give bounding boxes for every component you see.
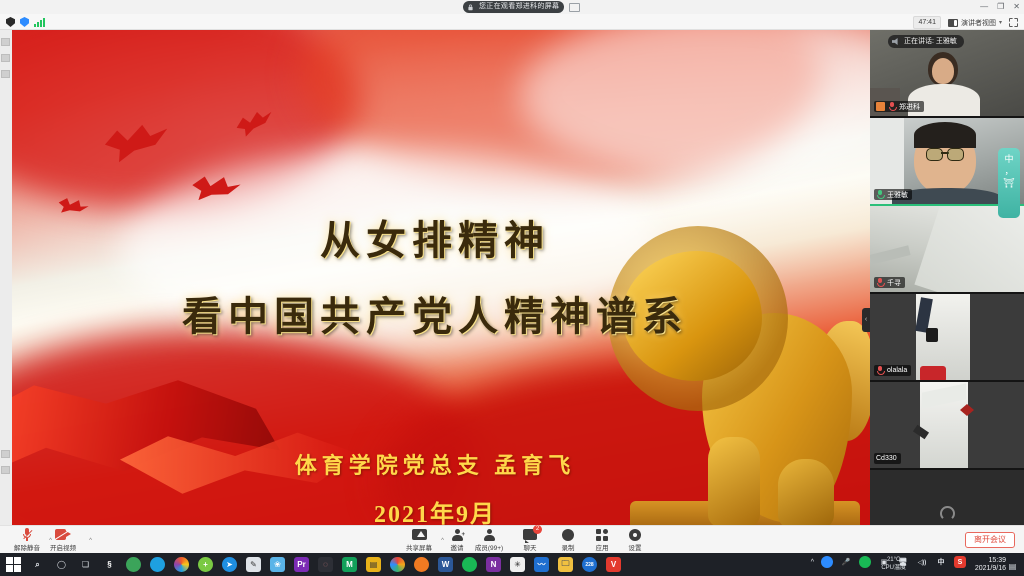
slide-thumbnail[interactable] bbox=[1, 450, 10, 458]
share-screen-indicator-icon bbox=[569, 3, 580, 12]
settings-button-label: 设置 bbox=[608, 542, 662, 552]
tray-zoom-icon[interactable] bbox=[821, 556, 833, 568]
chrome-icon[interactable] bbox=[174, 557, 189, 572]
participant-name: Cd330 bbox=[876, 455, 897, 462]
app-icon-pen[interactable]: ✎ bbox=[246, 557, 261, 572]
participant-name-badge: 郑进科 bbox=[874, 101, 924, 112]
tray-microphone-icon[interactable]: 🎤 bbox=[840, 556, 852, 568]
dove-icon bbox=[234, 107, 277, 140]
app-icon-mask[interactable]: ❀ bbox=[270, 557, 285, 572]
windows-taskbar: ⌕ ◯ ❏ § + ➤ ✎ ❀ Pr ◌ M ▤ W N ✳ 〰 🗀 228 V bbox=[0, 553, 1024, 576]
participant-name: 王雅敏 bbox=[887, 190, 908, 200]
title-bar: 您正在观看郑进科的屏幕 — ❐ ✕ bbox=[0, 0, 1024, 14]
slide-title: 从女排精神 看中国共产党人精神谱系 bbox=[0, 208, 870, 342]
onenote-icon[interactable]: N bbox=[486, 557, 501, 572]
app-icon-cursor[interactable]: ➤ bbox=[222, 557, 237, 572]
tray-expand-icon[interactable]: ^ bbox=[811, 559, 814, 566]
wechat-icon[interactable] bbox=[462, 557, 477, 572]
pin-icon[interactable] bbox=[876, 102, 885, 111]
cortana-icon[interactable]: ◯ bbox=[54, 557, 69, 572]
tray-wechat-icon[interactable] bbox=[859, 556, 871, 568]
slide-cloud bbox=[300, 30, 820, 190]
presentation-slide: 从女排精神 看中国共产党人精神谱系 体育学院党总支 孟育飞 2021年9月 bbox=[0, 30, 870, 525]
speaker-icon bbox=[892, 38, 900, 45]
settings-button[interactable]: 设置 bbox=[608, 528, 662, 552]
participant-name-badge: 千寻 bbox=[874, 277, 905, 288]
status-bar: 47:41 演讲者视图 ▾ bbox=[0, 14, 1024, 30]
start-video-button-label: 开启视频 bbox=[36, 542, 90, 552]
participant-tile[interactable]: olalala bbox=[870, 294, 1024, 382]
tray-volume-icon[interactable]: ◁)) bbox=[916, 556, 928, 568]
search-icon[interactable]: ⌕ bbox=[30, 557, 45, 572]
network-signal-icon[interactable] bbox=[34, 18, 45, 27]
shared-screen-stage[interactable]: 从女排精神 看中国共产党人精神谱系 体育学院党总支 孟育飞 2021年9月 ‹ bbox=[0, 30, 870, 525]
dove-icon bbox=[103, 121, 171, 166]
app-icon-green-circle[interactable] bbox=[126, 557, 141, 572]
meeting-timer: 47:41 bbox=[913, 16, 941, 29]
microphone-muted-icon bbox=[876, 366, 884, 375]
participant-name: olalala bbox=[887, 367, 907, 374]
taskbar-clock[interactable]: 15:39 2021/9/16 bbox=[975, 557, 1006, 573]
loading-spinner-wrapper bbox=[870, 506, 1024, 526]
viewing-notice-text: 您正在观看郑进科的屏幕 bbox=[479, 3, 559, 10]
speaking-label: 正在讲话: 王雅敏 bbox=[904, 38, 957, 45]
restore-button[interactable]: ❐ bbox=[997, 0, 1004, 14]
security-icon[interactable] bbox=[20, 17, 29, 27]
taskbar-time: 15:39 bbox=[975, 557, 1006, 565]
chevron-down-icon: ▾ bbox=[999, 19, 1002, 26]
zoom-meeting-window: 您正在观看郑进科的屏幕 — ❐ ✕ 47:41 演讲者视图 ▾ bbox=[0, 0, 1024, 576]
file-explorer-icon[interactable]: 🗀 bbox=[558, 557, 573, 572]
dove-icon bbox=[191, 173, 242, 206]
app-icon-colorwheel[interactable] bbox=[390, 557, 405, 572]
gear-icon bbox=[608, 528, 662, 541]
microphone-icon bbox=[876, 190, 884, 199]
minimize-button[interactable]: — bbox=[980, 0, 988, 14]
tray-screenshot-icon[interactable]: ▣ bbox=[878, 556, 890, 568]
ime-punctuation-label: ， bbox=[998, 165, 1020, 177]
participant-name-badge: olalala bbox=[874, 365, 911, 376]
notification-center-icon[interactable]: ▤ bbox=[1005, 559, 1020, 574]
participant-name: 郑进科 bbox=[899, 102, 920, 112]
shield-icon[interactable] bbox=[6, 17, 15, 27]
camera-off-icon: ^ bbox=[36, 528, 90, 541]
app-icon-228[interactable]: 228 bbox=[582, 557, 597, 572]
microphone-muted-icon bbox=[876, 278, 884, 287]
slide-presenter: 体育学院党总支 孟育飞 bbox=[0, 448, 870, 480]
participant-video-rail: 正在讲话: 王雅敏 郑进科 王雅敏 bbox=[870, 30, 1024, 525]
slide-thumbnail[interactable] bbox=[1, 38, 10, 46]
participant-name: 千寻 bbox=[887, 278, 901, 288]
lock-icon bbox=[467, 4, 474, 11]
slide-thumbnail[interactable] bbox=[1, 54, 10, 62]
powerpoint-slide-pane-edge bbox=[0, 30, 12, 525]
taskbar-icons: ⌕ ◯ ❏ § + ➤ ✎ ❀ Pr ◌ M ▤ W N ✳ 〰 🗀 228 V bbox=[6, 557, 621, 572]
view-mode-label: 演讲者视图 bbox=[961, 18, 996, 28]
start-button-icon[interactable] bbox=[6, 557, 21, 572]
premiere-icon[interactable]: Pr bbox=[294, 557, 309, 572]
fullscreen-icon[interactable] bbox=[1009, 18, 1018, 27]
task-view-icon[interactable]: ❏ bbox=[78, 557, 93, 572]
ime-extra-icon: ⛩ bbox=[998, 177, 1020, 189]
status-bar-right: 47:41 演讲者视图 ▾ bbox=[913, 16, 1018, 29]
participant-name-badge: Cd330 bbox=[874, 453, 901, 464]
system-tray: ^ 🎤 ▣ 🖥 ◁)) 中 S bbox=[811, 556, 966, 568]
slide-cloud bbox=[520, 30, 870, 180]
app-icon-blue-wave[interactable]: 〰 bbox=[534, 557, 549, 572]
app-icon-search-orange[interactable]: ◌ bbox=[318, 557, 333, 572]
chevron-up-icon[interactable]: ^ bbox=[89, 538, 92, 544]
app-icon-orange[interactable] bbox=[414, 557, 429, 572]
app-icon-plus[interactable]: + bbox=[198, 557, 213, 572]
leave-meeting-button[interactable]: 离开会议 bbox=[965, 532, 1015, 548]
slide-date: 2021年9月 bbox=[0, 494, 870, 525]
tray-app-icon[interactable]: S bbox=[954, 556, 966, 568]
meeting-toolbar: ^ 解除静音 ^ 开启视频 ^ 共享屏幕 + 邀请 bbox=[0, 525, 1024, 553]
tray-ime-icon[interactable]: 中 bbox=[935, 556, 947, 568]
ime-mode-label: 中 bbox=[998, 153, 1020, 165]
slide-title-line2: 看中国共产党人精神谱系 bbox=[0, 284, 870, 342]
glasses-icon bbox=[926, 148, 964, 159]
microphone-muted-icon bbox=[888, 102, 896, 111]
app-icon-s[interactable]: § bbox=[102, 557, 117, 572]
speaking-indicator: 正在讲话: 王雅敏 bbox=[888, 35, 964, 48]
slide-cloud bbox=[0, 30, 360, 210]
window-controls: — ❐ ✕ bbox=[980, 0, 1020, 14]
participant-tile[interactable]: 千寻 bbox=[870, 206, 1024, 294]
slide-subtitle: 体育学院党总支 孟育飞 2021年9月 bbox=[0, 448, 870, 525]
status-bar-left bbox=[6, 17, 45, 27]
tray-network-icon[interactable]: 🖥 bbox=[897, 556, 909, 568]
close-button[interactable]: ✕ bbox=[1013, 0, 1020, 14]
loading-spinner-icon bbox=[940, 506, 955, 521]
slide-title-line1: 从女排精神 bbox=[0, 208, 870, 266]
slide-thumbnail[interactable] bbox=[1, 70, 10, 78]
ime-floating-toolbar[interactable]: 中 ， ⛩ bbox=[998, 148, 1020, 218]
app-icon-m[interactable]: M bbox=[342, 557, 357, 572]
viewing-screen-notice: 您正在观看郑进科的屏幕 bbox=[463, 1, 564, 13]
participant-tile[interactable]: 正在讲话: 王雅敏 郑进科 bbox=[870, 30, 1024, 118]
view-mode-selector[interactable]: 演讲者视图 ▾ bbox=[948, 18, 1002, 28]
slide-thumbnail[interactable] bbox=[1, 466, 10, 474]
start-video-button[interactable]: ^ 开启视频 bbox=[36, 528, 90, 552]
word-icon[interactable]: W bbox=[438, 557, 453, 572]
speaker-view-icon bbox=[948, 19, 958, 27]
app-icon-folder-yellow[interactable]: ▤ bbox=[366, 557, 381, 572]
collapse-rail-handle[interactable]: ‹ bbox=[862, 308, 870, 332]
participant-tile[interactable]: Cd330 bbox=[870, 382, 1024, 470]
edge-icon[interactable] bbox=[150, 557, 165, 572]
app-icon-v[interactable]: V bbox=[606, 557, 621, 572]
taskbar-date: 2021/9/16 bbox=[975, 565, 1006, 573]
participant-name-badge: 王雅敏 bbox=[874, 189, 912, 200]
app-icon-ex[interactable]: ✳ bbox=[510, 557, 525, 572]
